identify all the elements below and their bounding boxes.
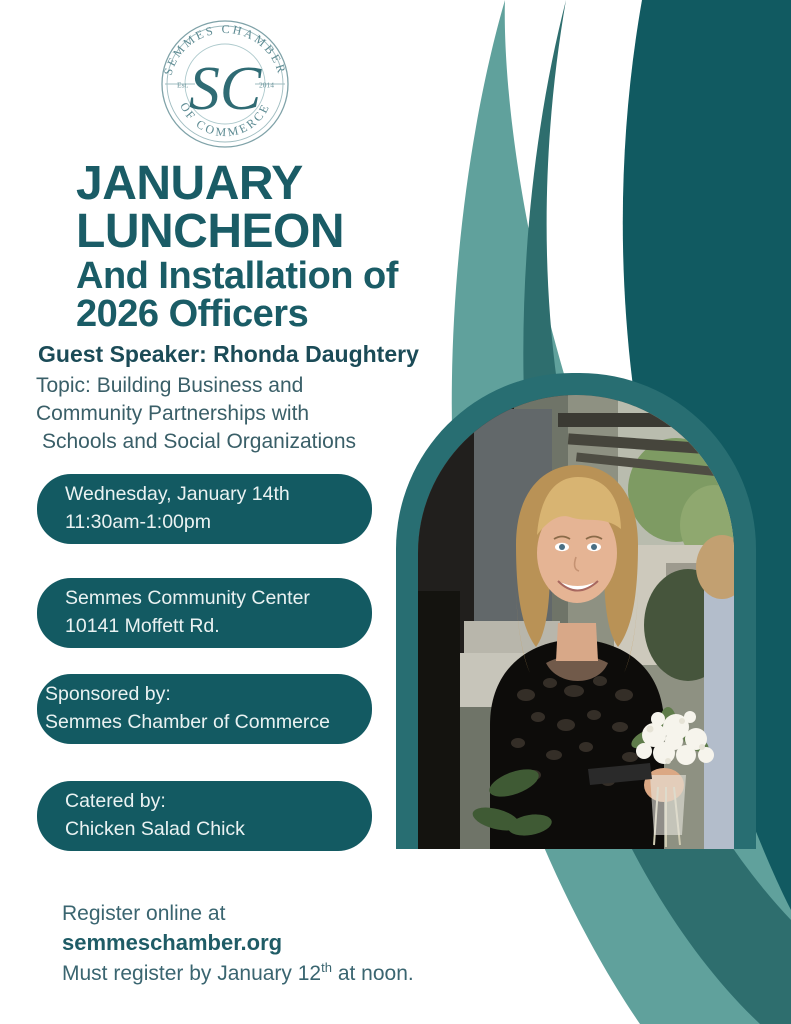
logo-monogram: SC (189, 55, 262, 123)
pill-date-line-1: Wednesday, January 14th (65, 481, 350, 509)
headline-line-3: And Installation of (76, 258, 516, 296)
pill-sponsor: Sponsored by: Semmes Chamber of Commerce (37, 674, 372, 744)
event-flyer: SEMMES CHAMBER OF COMMERCE Est. 2014 SC … (0, 0, 791, 1024)
registration-footer: Register online at semmeschamber.org Mus… (62, 900, 414, 988)
pill-sponsor-line-1: Sponsored by: (45, 681, 350, 709)
logo-year-label: 2014 (259, 81, 274, 90)
pill-venue-line-2: 10141 Moffett Rd. (65, 613, 350, 641)
topic-line-1: Topic: Building Business and (36, 372, 436, 400)
headline-block: JANUARY LUNCHEON And Installation of 202… (76, 160, 516, 333)
headline-line-2: LUNCHEON (76, 208, 516, 256)
website-link[interactable]: semmeschamber.org (62, 928, 414, 959)
guest-speaker-line: Guest Speaker: Rhonda Daughtery (38, 341, 419, 368)
speaker-photo (418, 395, 734, 849)
deadline-ordinal-suffix: th (321, 960, 332, 975)
topic-line-2: Community Partnerships with (36, 400, 436, 428)
deadline-note: Must register by January 12th at noon. (62, 959, 414, 988)
chamber-logo: SEMMES CHAMBER OF COMMERCE Est. 2014 SC (148, 14, 302, 150)
headline-line-1: JANUARY (76, 160, 516, 208)
pill-date-time: Wednesday, January 14th 11:30am-1:00pm (37, 474, 372, 544)
pill-venue: Semmes Community Center 10141 Moffett Rd… (37, 578, 372, 648)
deadline-text-post: at noon. (332, 962, 414, 985)
topic-block: Topic: Building Business and Community P… (36, 372, 436, 456)
chamber-seal-icon: SEMMES CHAMBER OF COMMERCE Est. 2014 SC (148, 14, 302, 150)
speaker-photo-frame (396, 373, 756, 849)
pill-date-line-2: 11:30am-1:00pm (65, 509, 350, 537)
deadline-text-pre: Must register by January 12 (62, 962, 321, 985)
pill-caterer: Catered by: Chicken Salad Chick (37, 781, 372, 851)
pill-caterer-line-2: Chicken Salad Chick (65, 816, 350, 844)
pill-sponsor-line-2: Semmes Chamber of Commerce (45, 709, 350, 737)
speaker-photo-illustration (418, 395, 734, 849)
register-prompt: Register online at (62, 900, 414, 928)
pill-caterer-line-1: Catered by: (65, 788, 350, 816)
topic-line-3: Schools and Social Organizations (36, 428, 436, 456)
pill-venue-line-1: Semmes Community Center (65, 585, 350, 613)
logo-est-label: Est. (177, 81, 189, 90)
headline-line-4: 2026 Officers (76, 296, 516, 334)
